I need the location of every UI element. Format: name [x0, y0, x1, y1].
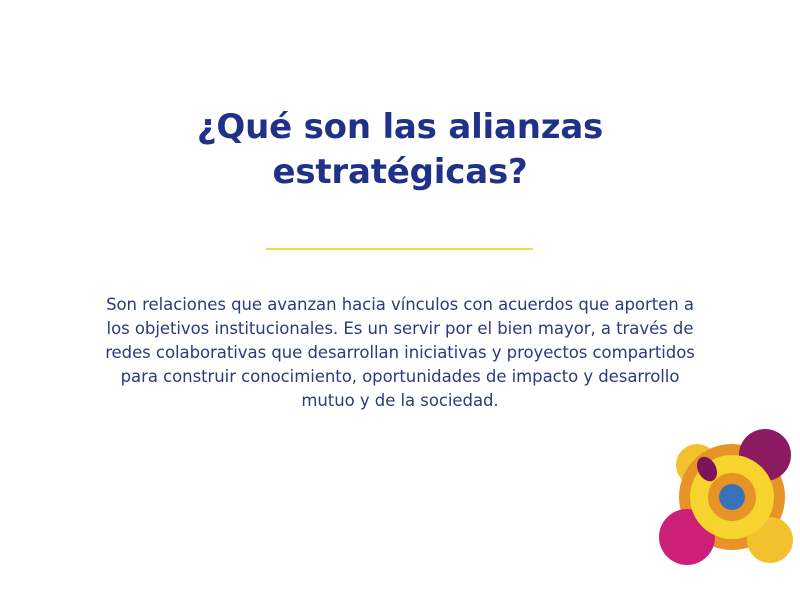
- divider-rule: [266, 248, 533, 250]
- title-line-2: estratégicas?: [100, 150, 700, 195]
- body-line-2: los objetivos institucionales. Es un ser…: [40, 317, 760, 341]
- title-line-1: ¿Qué son las alianzas: [100, 105, 700, 150]
- body-line-5: mutuo y de la sociedad.: [40, 389, 760, 413]
- concentric-circles-emblem-icon: [655, 420, 800, 580]
- body-line-4: para construir conocimiento, oportunidad…: [40, 365, 760, 389]
- page-title: ¿Qué son las alianzas estratégicas?: [100, 105, 700, 195]
- presentation-slide: ¿Qué son las alianzas estratégicas? Son …: [0, 0, 800, 600]
- body-line-3: redes colaborativas que desarrollan inic…: [40, 341, 760, 365]
- emblem-svg: [655, 420, 800, 580]
- body-paragraph: Son relaciones que avanzan hacia vínculo…: [40, 293, 760, 413]
- emblem-blue-core: [719, 484, 745, 510]
- body-line-1: Son relaciones que avanzan hacia vínculo…: [40, 293, 760, 317]
